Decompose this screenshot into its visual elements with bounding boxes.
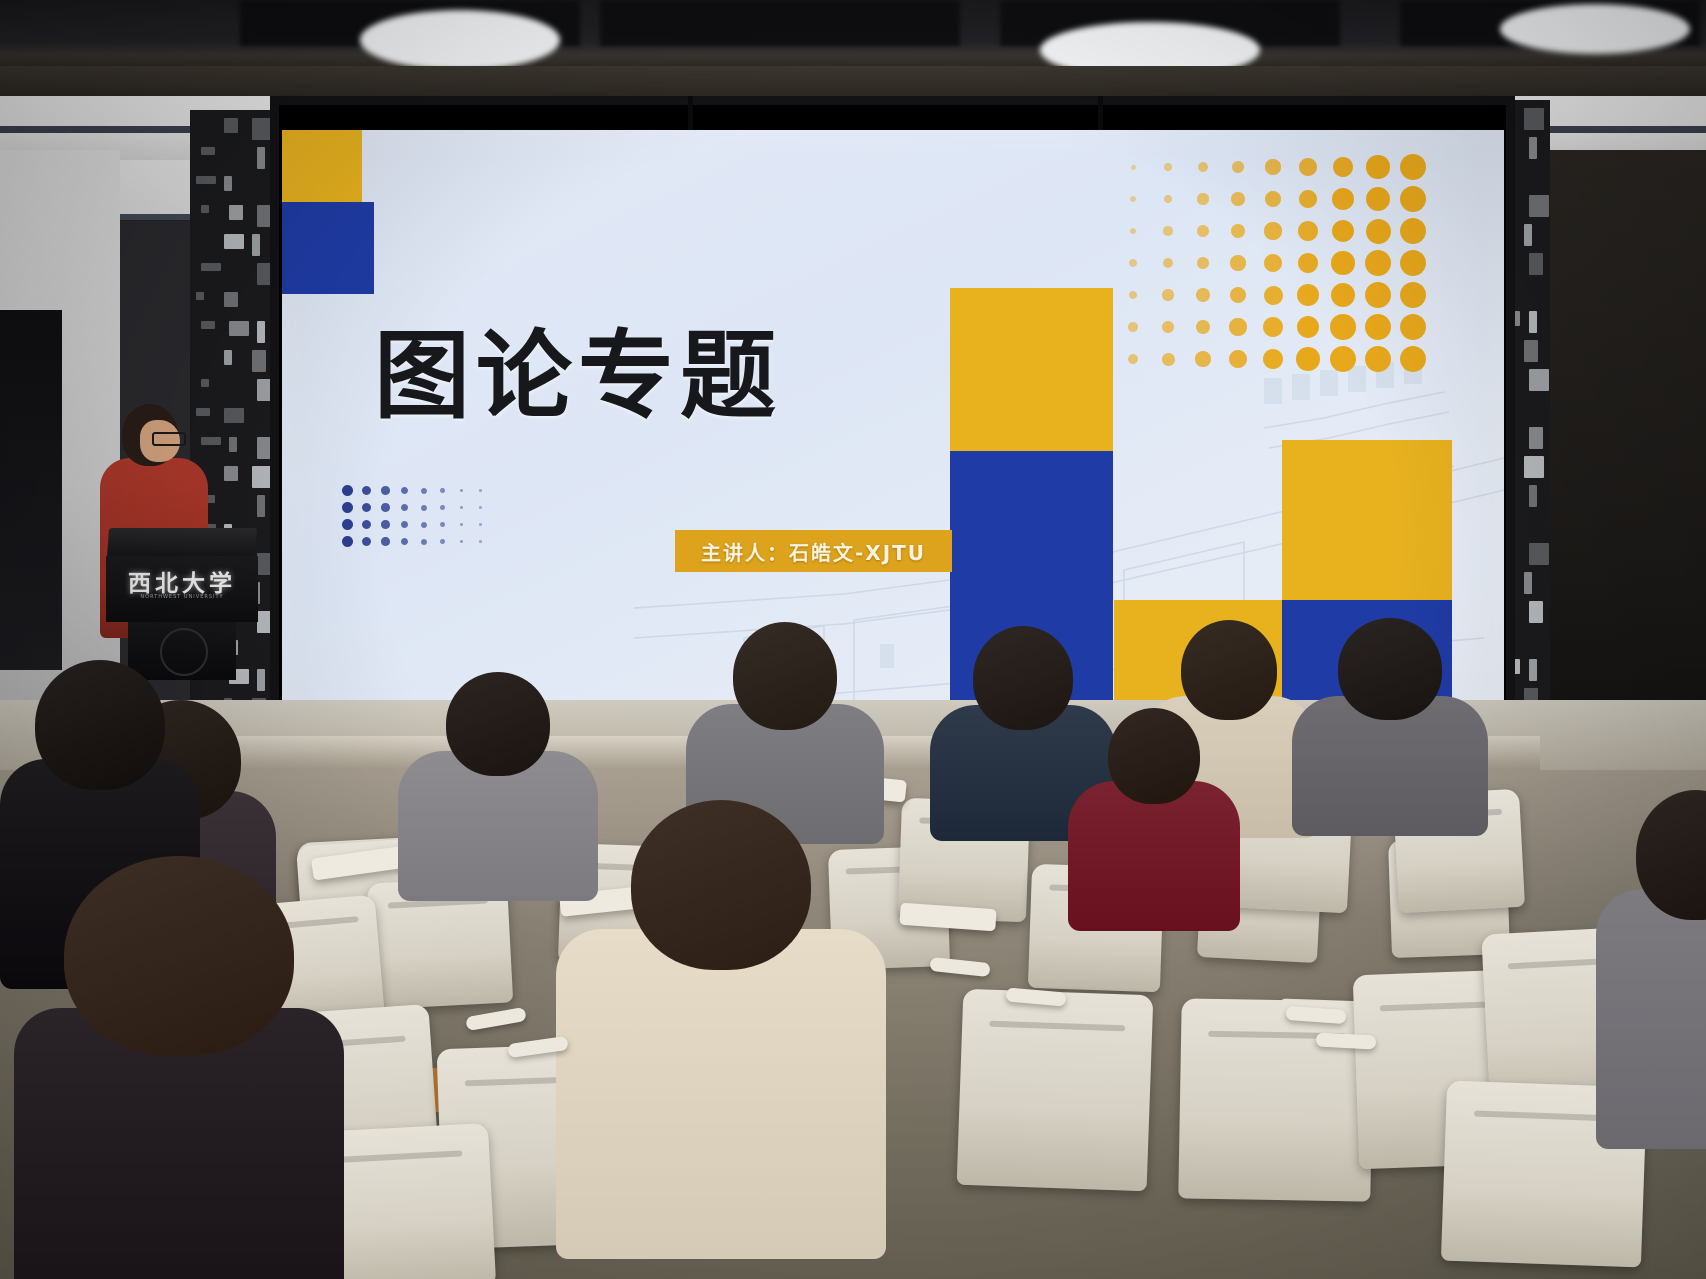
person-head <box>1338 618 1442 720</box>
decor-dot <box>1332 188 1354 210</box>
person-head <box>1108 708 1200 804</box>
decor-dot <box>1129 291 1138 300</box>
decor-dot <box>1299 158 1317 176</box>
decor-dot <box>362 486 372 496</box>
chair-back <box>957 989 1154 1192</box>
decor-dot <box>479 540 482 543</box>
bezel-seam-left <box>688 96 693 132</box>
audience-member <box>1292 618 1488 860</box>
decor-dot <box>421 488 427 494</box>
glasses-icon <box>152 432 186 446</box>
decor-dot <box>1400 186 1426 212</box>
decor-dot <box>1264 222 1281 239</box>
decor-dot <box>440 488 445 493</box>
decor-dot <box>1162 321 1174 333</box>
decor-dot <box>1264 286 1283 305</box>
decor-dot <box>1164 163 1172 171</box>
podium-university-name: 西北大学 <box>106 564 258 598</box>
decor-dot <box>1400 154 1426 180</box>
decor-dot <box>1331 283 1355 307</box>
audience-member <box>556 800 886 1279</box>
decor-dot <box>1366 187 1390 211</box>
decor-dot <box>1230 255 1246 271</box>
auditorium-chair <box>957 989 1154 1192</box>
decor-dot <box>1128 322 1138 332</box>
bezel-seam-right <box>1098 96 1103 132</box>
decor-dot <box>460 489 464 493</box>
slide-title: 图论专题 <box>374 328 782 424</box>
ceiling-beam <box>0 66 1706 100</box>
decor-dot <box>1265 159 1280 174</box>
decor-dot <box>440 522 445 527</box>
decor-dot <box>1400 250 1426 276</box>
person-head <box>631 800 811 970</box>
decor-dot <box>1366 155 1389 178</box>
decor-dot <box>1365 250 1391 276</box>
person-head <box>446 672 550 776</box>
decor-dot <box>1365 314 1391 340</box>
person-body <box>1596 889 1706 1149</box>
decor-dot <box>1162 289 1173 300</box>
decor-dot <box>401 538 408 545</box>
decor-dot <box>440 539 445 544</box>
ceiling-light <box>1500 4 1690 54</box>
decor-dot <box>440 505 445 510</box>
decor-dot <box>421 505 427 511</box>
decor-dot <box>1131 165 1136 170</box>
decor-dot <box>401 521 408 528</box>
decor-dot <box>1229 318 1246 335</box>
decor-dot <box>362 503 372 513</box>
audience-member <box>14 856 344 1279</box>
decor-dot <box>1162 353 1175 366</box>
decor-dot <box>1197 257 1210 270</box>
decor-dot <box>1130 228 1137 235</box>
auditorium-chair <box>1178 998 1373 1201</box>
decor-dot <box>381 537 390 546</box>
podium-university-subname: NORTHWEST UNIVERSITY <box>106 594 258 600</box>
decor-dot <box>1331 251 1354 274</box>
decor-dot <box>1163 226 1172 235</box>
decor-dot <box>479 489 482 492</box>
podium: 西北大学 NORTHWEST UNIVERSITY <box>106 528 258 680</box>
decor-dot <box>460 523 464 527</box>
decor-dot <box>1265 191 1281 207</box>
decor-dot <box>401 504 408 511</box>
decor-dot <box>1400 346 1426 372</box>
lecture-hall-photo: 图论专题 主讲人：石皓文-XJTU 西北大学 NORTHWEST UNIVERS… <box>0 0 1706 1279</box>
decor-dot <box>381 520 390 529</box>
decor-dot <box>1196 288 1210 302</box>
decor-dot <box>1198 162 1208 172</box>
decor-dot <box>1330 314 1355 339</box>
decor-dot <box>1400 282 1426 308</box>
decor-dot <box>479 523 482 526</box>
decor-block-bottom-left-blue <box>282 202 374 294</box>
decor-block-right-yellow <box>1282 440 1452 600</box>
decor-dot <box>1130 196 1136 202</box>
decor-dot <box>421 522 427 528</box>
decor-dot <box>1231 224 1246 239</box>
chair-back <box>1178 998 1373 1201</box>
person-head <box>733 622 837 730</box>
decor-dot <box>381 486 390 495</box>
speaker-banner: 主讲人：石皓文-XJTU <box>675 530 952 572</box>
decor-dot <box>1164 195 1173 204</box>
decor-dot <box>460 540 464 544</box>
decor-dot <box>1400 314 1426 340</box>
decor-dot <box>421 539 427 545</box>
person-body <box>556 929 886 1259</box>
speaker-banner-label: 主讲人：石皓文-XJTU <box>701 537 926 566</box>
audience-member <box>1596 790 1706 1180</box>
decor-dot <box>1333 157 1354 178</box>
decor-dot <box>1232 161 1245 174</box>
decor-dot <box>1195 351 1211 367</box>
decor-dot <box>1229 350 1247 368</box>
decor-dot <box>1197 193 1208 204</box>
decor-dot <box>1230 287 1246 303</box>
ceiling-panel <box>600 0 960 46</box>
decor-block-top-left-yellow <box>282 130 362 202</box>
decor-dot <box>1400 218 1426 244</box>
decor-dot <box>460 506 464 510</box>
decor-dot <box>1366 219 1391 244</box>
decor-dot <box>1298 253 1319 274</box>
decor-dot <box>362 537 372 547</box>
decor-dot <box>342 536 353 547</box>
decor-dot <box>1231 192 1245 206</box>
decor-dot <box>401 487 408 494</box>
decor-dot <box>1296 347 1319 370</box>
decor-dot <box>1299 190 1318 209</box>
decor-dot <box>1332 220 1354 242</box>
left-dark-panel <box>0 310 62 670</box>
decor-dot <box>1129 259 1137 267</box>
ceiling-light <box>360 10 560 70</box>
decor-dot <box>1297 284 1319 306</box>
decor-dot <box>362 520 372 530</box>
person-head <box>35 660 165 790</box>
decor-dot <box>381 503 390 512</box>
decor-dot <box>1365 346 1391 372</box>
decor-dot <box>479 506 482 509</box>
decor-dot <box>1163 258 1173 268</box>
person-head <box>973 626 1073 730</box>
decor-dot <box>342 502 353 513</box>
decor-dot <box>1365 282 1391 308</box>
decor-dot <box>342 519 353 530</box>
decor-dot <box>1330 346 1356 372</box>
audience-member <box>1068 708 1240 954</box>
decor-dot <box>1197 225 1209 237</box>
decor-dot <box>1298 221 1318 241</box>
decor-dot <box>342 485 353 496</box>
decor-block-center-yellow <box>950 288 1113 451</box>
podium-top <box>107 528 257 558</box>
decor-dot <box>1264 254 1282 272</box>
person-head <box>1181 620 1277 720</box>
person-head <box>64 856 294 1056</box>
decor-dot <box>1263 317 1283 337</box>
